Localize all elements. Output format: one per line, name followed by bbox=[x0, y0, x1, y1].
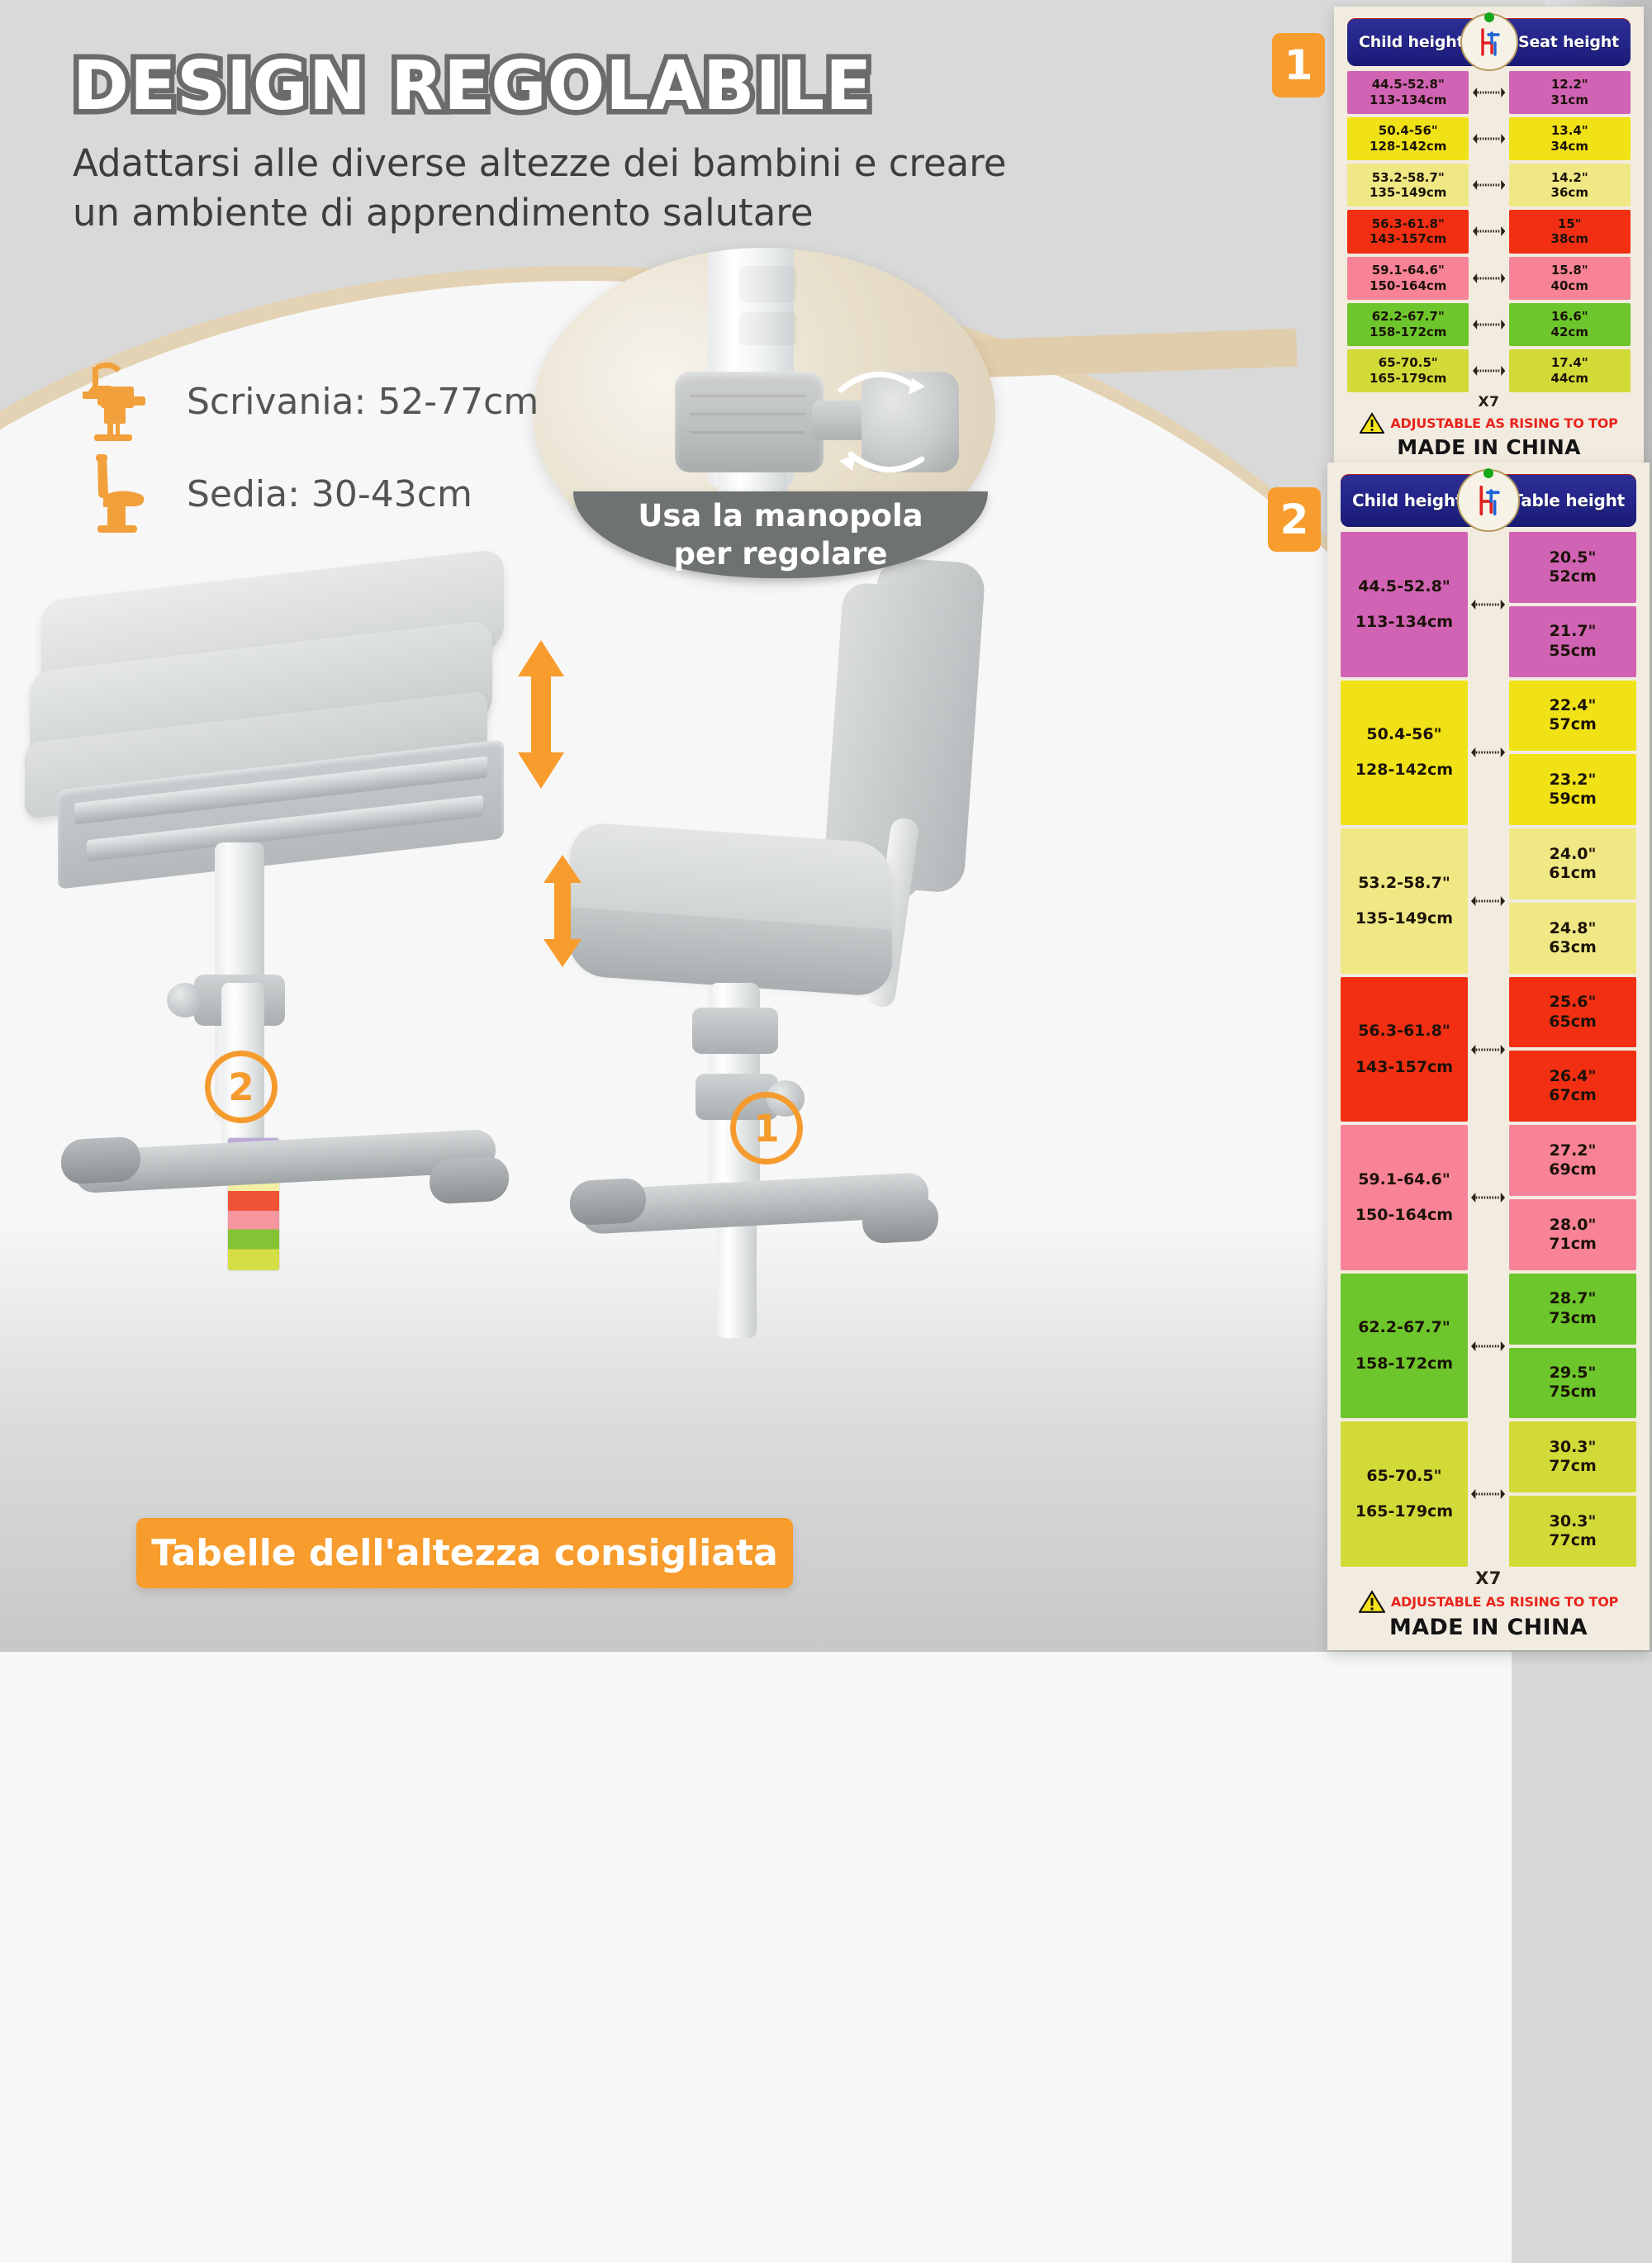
chart2-table-height-cell: 21.7"55cm bbox=[1509, 606, 1636, 677]
chart1-seat-height-column: 12.2"31cm13.4"34cm14.2"36cm15"38cm15.8"4… bbox=[1509, 71, 1631, 396]
chart1-seat-height-cell: 14.2"36cm bbox=[1509, 164, 1631, 206]
chart2-arrow-cell bbox=[1468, 1421, 1509, 1567]
chart1-multiplier: X7 bbox=[1347, 394, 1631, 410]
chart1-child-height-cell: 62.2-67.7"158-172cm bbox=[1347, 303, 1469, 346]
chair-icon bbox=[76, 451, 165, 537]
chart1-warning-text: ADJUSTABLE AS RISING TO TOP bbox=[1390, 415, 1617, 431]
chart1-seat-height-cell: 13.4"34cm bbox=[1509, 117, 1631, 160]
warning-triangle-icon bbox=[1359, 1590, 1385, 1613]
double-headed-arrow-icon bbox=[1471, 895, 1505, 907]
seat-height-cm: 44cm bbox=[1551, 371, 1588, 387]
child-height-inches: 44.5-52.8" bbox=[1372, 77, 1445, 93]
child-height-inches: 65-70.5" bbox=[1379, 355, 1438, 371]
seat-height-cm: 31cm bbox=[1551, 93, 1588, 108]
chart2-child-height-cell: 65-70.5"165-179cm bbox=[1341, 1421, 1468, 1567]
chart2-arrow-column bbox=[1468, 532, 1509, 1570]
chart1-arrow-cell bbox=[1469, 71, 1508, 114]
table-height-cm: 55cm bbox=[1549, 642, 1597, 661]
seat-height-cm: 34cm bbox=[1551, 139, 1588, 154]
table-height-cm: 59cm bbox=[1549, 790, 1597, 809]
chart1-footer: X7 ADJUSTABLE AS RISING TO TOP MADE IN C… bbox=[1347, 396, 1631, 459]
chart2-arrow-cell bbox=[1468, 1125, 1509, 1270]
head-icon-dot bbox=[1484, 12, 1494, 22]
child-height-cm: 113-134cm bbox=[1370, 93, 1446, 108]
table-height-inches: 22.4" bbox=[1550, 696, 1597, 715]
seat-height-cm: 40cm bbox=[1551, 278, 1588, 294]
table-height-cm: 52cm bbox=[1549, 567, 1597, 586]
table-height-inches: 21.7" bbox=[1550, 622, 1597, 641]
child-height-inches: 53.2-58.7" bbox=[1372, 170, 1445, 186]
bottom-caption-text: Tabelle dell'altezza consigliata bbox=[151, 1532, 778, 1574]
chart2-arrow-cell bbox=[1468, 1274, 1509, 1419]
chart1-seat-height-cell: 16.6"42cm bbox=[1509, 303, 1631, 346]
chair-collar-upper bbox=[692, 1008, 778, 1054]
chart1-arrow-cell bbox=[1469, 210, 1508, 253]
chart2-child-height-cell: 44.5-52.8"113-134cm bbox=[1341, 532, 1468, 677]
spec-row-desk: Scrivania: 52-77cm bbox=[76, 355, 539, 448]
chair-foot-cap-left bbox=[570, 1178, 646, 1226]
inset-clamp-groove-2 bbox=[690, 413, 805, 415]
chart2-arrow-cell bbox=[1468, 532, 1509, 677]
double-headed-arrow-icon bbox=[1473, 179, 1505, 191]
table-height-chart-card: Child height Table height bbox=[1327, 463, 1650, 1650]
table-height-inches: 28.7" bbox=[1550, 1289, 1597, 1308]
spec-list: Scrivania: 52-77cm Sedia: 30-43cm bbox=[76, 355, 539, 540]
chart2-child-height-cell: 53.2-58.7"135-149cm bbox=[1341, 828, 1468, 974]
chair-height-range-arrow-icon bbox=[537, 855, 588, 967]
chart2-table-height-cell: 25.6"65cm bbox=[1509, 977, 1636, 1048]
chart2-arrow-cell bbox=[1468, 828, 1509, 974]
table-height-inches: 30.3" bbox=[1550, 1512, 1597, 1531]
inset-tube-emboss-1 bbox=[739, 266, 797, 302]
chart2-table-height-cell: 28.0"71cm bbox=[1509, 1199, 1636, 1270]
child-height-cm: 150-164cm bbox=[1355, 1206, 1453, 1225]
table-height-cm: 63cm bbox=[1549, 938, 1597, 957]
table-height-cm: 57cm bbox=[1549, 715, 1597, 734]
chart2-table-height-cell: 23.2"59cm bbox=[1509, 754, 1636, 825]
child-height-cm: 135-149cm bbox=[1355, 909, 1453, 928]
page-title: DESIGN REGOLABILE bbox=[73, 51, 1006, 122]
marker-desk-step-2: 2 bbox=[205, 1051, 278, 1123]
double-headed-arrow-icon bbox=[1471, 1488, 1505, 1500]
chart2-child-height-column: 44.5-52.8"113-134cm50.4-56"128-142cm53.2… bbox=[1341, 532, 1468, 1570]
rotation-arrows-icon bbox=[826, 347, 942, 504]
seat-height-inches: 12.2" bbox=[1551, 77, 1588, 93]
double-headed-arrow-icon bbox=[1471, 1192, 1505, 1203]
double-headed-arrow-icon bbox=[1471, 1340, 1505, 1352]
child-sitting-on-chair-icon bbox=[1460, 13, 1518, 71]
chart2-table-height-cell: 30.3"77cm bbox=[1509, 1496, 1636, 1567]
seat-height-inches: 17.4" bbox=[1551, 355, 1588, 371]
double-headed-arrow-icon bbox=[1473, 365, 1505, 377]
chart2-child-height-cell: 56.3-61.8"143-157cm bbox=[1341, 977, 1468, 1122]
chart1-arrow-cell bbox=[1469, 257, 1508, 300]
table-height-cm: 77cm bbox=[1549, 1531, 1597, 1550]
seat-height-inches: 15" bbox=[1558, 216, 1582, 232]
child-height-cm: 143-157cm bbox=[1355, 1058, 1453, 1077]
chart-badge-1: 1 bbox=[1272, 33, 1325, 97]
chart2-origin-text: MADE IN CHINA bbox=[1341, 1615, 1636, 1640]
chart2-child-height-cell: 50.4-56"128-142cm bbox=[1341, 681, 1468, 826]
chart2-arrow-cell bbox=[1468, 681, 1509, 826]
warning-triangle-icon bbox=[1360, 412, 1384, 434]
child-height-inches: 62.2-67.7" bbox=[1358, 1318, 1450, 1337]
chart1-child-height-cell: 65-70.5"165-179cm bbox=[1347, 349, 1469, 392]
child-height-cm: 165-179cm bbox=[1370, 371, 1446, 387]
chart2-child-height-cell: 59.1-64.6"150-164cm bbox=[1341, 1125, 1468, 1270]
inset-clamp-groove-3 bbox=[690, 431, 805, 434]
chart2-table-height-cell: 24.8"63cm bbox=[1509, 903, 1636, 974]
table-height-inches: 27.2" bbox=[1550, 1141, 1597, 1160]
seat-height-cm: 36cm bbox=[1551, 185, 1588, 201]
chart2-table-height-cell: 26.4"67cm bbox=[1509, 1051, 1636, 1122]
chart1-seat-height-cell: 15.8"40cm bbox=[1509, 257, 1631, 300]
inset-clamp-housing bbox=[675, 372, 824, 472]
child-height-cm: 135-149cm bbox=[1370, 185, 1446, 201]
chart1-header: Child height Seat height bbox=[1347, 18, 1631, 66]
child-height-cm: 143-157cm bbox=[1370, 231, 1446, 247]
header-block: DESIGN REGOLABILE Adattarsi alle diverse… bbox=[73, 51, 1006, 238]
child-height-inches: 56.3-61.8" bbox=[1358, 1022, 1450, 1041]
chart1-child-height-cell: 53.2-58.7"135-149cm bbox=[1347, 164, 1469, 206]
chair-foot-cap-right bbox=[862, 1196, 938, 1245]
subtitle-line-1: Adattarsi alle diverse altezze dei bambi… bbox=[73, 139, 1006, 188]
chart1-arrow-cell bbox=[1469, 117, 1508, 160]
page-subtitle: Adattarsi alle diverse altezze dei bambi… bbox=[73, 139, 1006, 238]
chart1-origin-text: MADE IN CHINA bbox=[1347, 435, 1631, 459]
table-height-cm: 73cm bbox=[1549, 1309, 1597, 1328]
chart1-seat-height-cell: 15"38cm bbox=[1509, 210, 1631, 253]
desk-product-photo bbox=[25, 570, 586, 1231]
chart1-child-height-cell: 44.5-52.8"113-134cm bbox=[1347, 71, 1469, 114]
child-sitting-at-table-icon bbox=[1457, 469, 1520, 532]
chart2-multiplier: X7 bbox=[1341, 1568, 1636, 1588]
chart2-table-height-cell: 28.7"73cm bbox=[1509, 1274, 1636, 1345]
chart1-arrow-cell bbox=[1469, 303, 1508, 346]
child-height-cm: 113-134cm bbox=[1355, 613, 1453, 632]
desk-foot-cap-left bbox=[61, 1136, 140, 1184]
seat-height-inches: 15.8" bbox=[1551, 263, 1588, 278]
chart2-header-right: Table height bbox=[1512, 491, 1625, 510]
chart1-child-height-cell: 50.4-56"128-142cm bbox=[1347, 117, 1469, 160]
child-height-inches: 62.2-67.7" bbox=[1372, 309, 1445, 325]
chart1-header-right: Seat height bbox=[1518, 33, 1619, 51]
chair-product-photo bbox=[545, 545, 1074, 1652]
child-height-cm: 150-164cm bbox=[1370, 278, 1446, 294]
chart1-child-height-cell: 59.1-64.6"150-164cm bbox=[1347, 257, 1469, 300]
chart1-seat-height-cell: 12.2"31cm bbox=[1509, 71, 1631, 114]
chart2-header-left: Child height bbox=[1352, 491, 1463, 510]
table-height-inches: 20.5" bbox=[1550, 548, 1597, 567]
table-height-inches: 26.4" bbox=[1550, 1067, 1597, 1086]
table-height-cm: 69cm bbox=[1549, 1160, 1597, 1179]
head-icon-dot bbox=[1483, 468, 1493, 478]
chart1-child-height-cell: 56.3-61.8"143-157cm bbox=[1347, 210, 1469, 253]
chart-badge-2: 2 bbox=[1268, 487, 1321, 552]
chart2-table-height-cell: 20.5"52cm bbox=[1509, 532, 1636, 603]
child-height-inches: 56.3-61.8" bbox=[1372, 216, 1445, 232]
table-height-cm: 67cm bbox=[1549, 1086, 1597, 1105]
chart1-child-height-column: 44.5-52.8"113-134cm50.4-56"128-142cm53.2… bbox=[1347, 71, 1469, 396]
chart2-child-height-cell: 62.2-67.7"158-172cm bbox=[1341, 1274, 1468, 1419]
seat-height-inches: 16.6" bbox=[1551, 309, 1588, 325]
double-headed-arrow-icon bbox=[1473, 225, 1505, 237]
chart2-arrow-cell bbox=[1468, 977, 1509, 1122]
table-height-cm: 75cm bbox=[1549, 1383, 1597, 1402]
table-height-inches: 24.0" bbox=[1550, 845, 1597, 864]
bottom-caption-bar: Tabelle dell'altezza consigliata bbox=[136, 1518, 793, 1588]
chart2-table-height-cell: 30.3"77cm bbox=[1509, 1421, 1636, 1492]
chart2-footer: X7 ADJUSTABLE AS RISING TO TOP MADE IN C… bbox=[1341, 1570, 1636, 1640]
desk-with-lamp-icon bbox=[76, 358, 165, 444]
double-headed-arrow-icon bbox=[1473, 133, 1505, 145]
chart1-arrow-cell bbox=[1469, 349, 1508, 392]
child-height-cm: 128-142cm bbox=[1370, 139, 1446, 154]
table-height-cm: 71cm bbox=[1549, 1235, 1597, 1254]
seat-height-inches: 14.2" bbox=[1551, 170, 1588, 186]
child-height-inches: 53.2-58.7" bbox=[1358, 874, 1450, 893]
table-height-cm: 65cm bbox=[1549, 1013, 1597, 1032]
callout-line-1: Usa la manopola bbox=[638, 497, 923, 534]
table-height-inches: 29.5" bbox=[1550, 1364, 1597, 1383]
child-height-inches: 50.4-56" bbox=[1379, 123, 1438, 139]
desk-foot-cap-right bbox=[430, 1155, 509, 1204]
seat-height-cm: 38cm bbox=[1551, 231, 1588, 247]
chart2-table-height-cell: 27.2"69cm bbox=[1509, 1125, 1636, 1196]
chart1-arrow-cell bbox=[1469, 164, 1508, 206]
table-height-inches: 30.3" bbox=[1550, 1438, 1597, 1457]
subtitle-line-2: un ambiente di apprendimento salutare bbox=[73, 188, 1006, 238]
seat-height-cm: 42cm bbox=[1551, 325, 1588, 340]
inset-tube-emboss-2 bbox=[739, 312, 797, 345]
spec-label-desk: Scrivania: 52-77cm bbox=[187, 381, 539, 423]
child-height-inches: 59.1-64.6" bbox=[1372, 263, 1445, 278]
double-headed-arrow-icon bbox=[1471, 747, 1505, 758]
chart1-arrow-column bbox=[1469, 71, 1508, 396]
child-height-cm: 128-142cm bbox=[1355, 761, 1453, 780]
desk-height-range-arrow-icon bbox=[508, 640, 574, 789]
spec-row-chair: Sedia: 30-43cm bbox=[76, 448, 539, 540]
callout-line-2: per regolare bbox=[638, 535, 923, 572]
inset-clamp-groove-1 bbox=[690, 395, 805, 397]
marker-chair-step-1: 1 bbox=[730, 1092, 803, 1165]
double-headed-arrow-icon bbox=[1471, 1044, 1505, 1056]
seat-height-chart-card: Child height Seat height bbox=[1334, 7, 1644, 469]
child-height-inches: 50.4-56" bbox=[1366, 725, 1441, 744]
child-height-inches: 44.5-52.8" bbox=[1358, 577, 1450, 596]
double-headed-arrow-icon bbox=[1473, 87, 1505, 98]
child-height-inches: 65-70.5" bbox=[1366, 1467, 1441, 1486]
chart2-table-height-cell: 29.5"75cm bbox=[1509, 1348, 1636, 1419]
seat-height-inches: 13.4" bbox=[1551, 123, 1588, 139]
table-height-cm: 61cm bbox=[1549, 864, 1597, 883]
table-height-cm: 77cm bbox=[1549, 1457, 1597, 1476]
child-height-cm: 158-172cm bbox=[1355, 1354, 1453, 1373]
chart2-warning-text: ADJUSTABLE AS RISING TO TOP bbox=[1391, 1594, 1618, 1610]
child-height-cm: 165-179cm bbox=[1355, 1502, 1453, 1521]
chart2-table-height-column: 20.5"52cm21.7"55cm22.4"57cm23.2"59cm24.0… bbox=[1509, 532, 1636, 1570]
desk-adjust-knob bbox=[167, 983, 203, 1018]
chart1-header-left: Child height bbox=[1359, 33, 1464, 51]
table-height-inches: 25.6" bbox=[1550, 993, 1597, 1012]
chart2-table-height-cell: 22.4"57cm bbox=[1509, 681, 1636, 752]
child-height-cm: 158-172cm bbox=[1370, 325, 1446, 340]
chart2-table-height-cell: 24.0"61cm bbox=[1509, 828, 1636, 899]
double-headed-arrow-icon bbox=[1473, 319, 1505, 330]
table-height-inches: 24.8" bbox=[1550, 919, 1597, 938]
double-headed-arrow-icon bbox=[1473, 273, 1505, 284]
chart1-seat-height-cell: 17.4"44cm bbox=[1509, 349, 1631, 392]
callout-text: Usa la manopola per regolare bbox=[638, 497, 923, 572]
child-height-inches: 59.1-64.6" bbox=[1358, 1170, 1450, 1189]
double-headed-arrow-icon bbox=[1471, 599, 1505, 610]
table-height-inches: 23.2" bbox=[1550, 771, 1597, 790]
chart2-header: Child height Table height bbox=[1341, 474, 1636, 527]
table-height-inches: 28.0" bbox=[1550, 1216, 1597, 1235]
spec-label-chair: Sedia: 30-43cm bbox=[187, 473, 472, 515]
